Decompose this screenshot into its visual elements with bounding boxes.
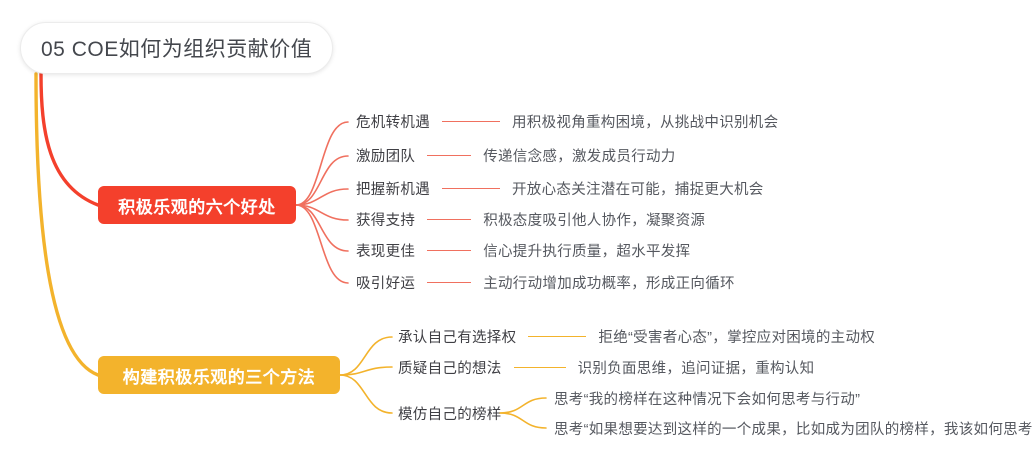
orange-branch-connectors xyxy=(340,337,392,413)
leaf-dash-icon xyxy=(427,282,471,283)
leaf-item[interactable]: 把握新机遇 开放心态关注潜在可能，捕捉更大机会 xyxy=(356,178,764,199)
branch-node-benefits-label: 积极乐观的六个好处 xyxy=(118,193,276,218)
trunk-to-red-branch xyxy=(41,74,98,205)
leaf-label: 把握新机遇 xyxy=(356,178,430,199)
leaf-item[interactable]: 吸引好运 主动行动增加成功概率，形成正向循环 xyxy=(356,272,735,293)
leaf-label: 承认自己有选择权 xyxy=(398,326,516,347)
leaf-item[interactable]: 质疑自己的想法 识别负面思维，追问证据，重构认知 xyxy=(398,357,814,378)
leaf-label: 激励团队 xyxy=(356,145,415,166)
sub-leaf-item[interactable]: 思考“如果想要达到这样的一个成果，比如成为团队的榜样，我该如何思考和反应” xyxy=(554,418,1033,439)
leaf-item[interactable]: 模仿自己的榜样 xyxy=(398,403,502,424)
leaf-label: 模仿自己的榜样 xyxy=(398,403,502,424)
leaf-item[interactable]: 表现更佳 信心提升执行质量，超水平发挥 xyxy=(356,240,690,261)
leaf-description: 传递信念感，激发成员行动力 xyxy=(483,145,675,166)
branch-node-benefits[interactable]: 积极乐观的六个好处 xyxy=(98,186,296,224)
branch-node-methods[interactable]: 构建积极乐观的三个方法 xyxy=(98,356,340,394)
branch-node-methods-label: 构建积极乐观的三个方法 xyxy=(123,363,316,388)
sub-leaf-item[interactable]: 思考“我的榜样在这种情况下会如何思考与行动” xyxy=(554,388,860,409)
sub-leaf-text: 思考“我的榜样在这种情况下会如何思考与行动” xyxy=(554,388,860,409)
trunk-to-orange-branch xyxy=(36,74,98,375)
leaf-dash-icon xyxy=(528,336,586,337)
leaf-description: 积极态度吸引他人协作，凝聚资源 xyxy=(483,209,705,230)
leaf-dash-icon xyxy=(442,188,500,189)
sub-leaf-text: 思考“如果想要达到这样的一个成果，比如成为团队的榜样，我该如何思考和反应” xyxy=(554,418,1033,439)
leaf-dash-icon xyxy=(427,219,471,220)
leaf-label: 表现更佳 xyxy=(356,240,415,261)
leaf-description: 信心提升执行质量，超水平发挥 xyxy=(483,240,690,261)
leaf-description: 主动行动增加成功概率，形成正向循环 xyxy=(483,272,735,293)
leaf-description: 开放心态关注潜在可能，捕捉更大机会 xyxy=(512,178,764,199)
leaf-dash-icon xyxy=(427,155,471,156)
leaf-item[interactable]: 激励团队 传递信念感，激发成员行动力 xyxy=(356,145,676,166)
mindmap-canvas: 05 COE如何为组织贡献价值 积极乐观的六个好处 构建积极乐观的三个方法 危机… xyxy=(0,0,1033,458)
leaf-description: 识别负面思维，追问证据，重构认知 xyxy=(578,357,815,378)
leaf-label: 吸引好运 xyxy=(356,272,415,293)
leaf-dash-icon xyxy=(427,250,471,251)
leaf-item[interactable]: 危机转机遇 用积极视角重构困境，从挑战中识别机会 xyxy=(356,111,778,132)
leaf-description: 拒绝“受害者心态”，掌控应对困境的主动权 xyxy=(598,326,875,347)
leaf-label: 获得支持 xyxy=(356,209,415,230)
leaf-label: 危机转机遇 xyxy=(356,111,430,132)
root-node-title: 05 COE如何为组织贡献价值 xyxy=(41,33,312,63)
leaf-label: 质疑自己的想法 xyxy=(398,357,502,378)
leaf-dash-icon xyxy=(442,121,500,122)
root-node[interactable]: 05 COE如何为组织贡献价值 xyxy=(20,22,333,74)
leaf-description: 用积极视角重构困境，从挑战中识别机会 xyxy=(512,111,778,132)
red-branch-connectors xyxy=(296,122,348,283)
leaf-item[interactable]: 承认自己有选择权 拒绝“受害者心态”，掌控应对困境的主动权 xyxy=(398,326,875,347)
mofang-subconnectors xyxy=(500,398,546,428)
leaf-item[interactable]: 获得支持 积极态度吸引他人协作，凝聚资源 xyxy=(356,209,705,230)
leaf-dash-icon xyxy=(514,367,566,368)
